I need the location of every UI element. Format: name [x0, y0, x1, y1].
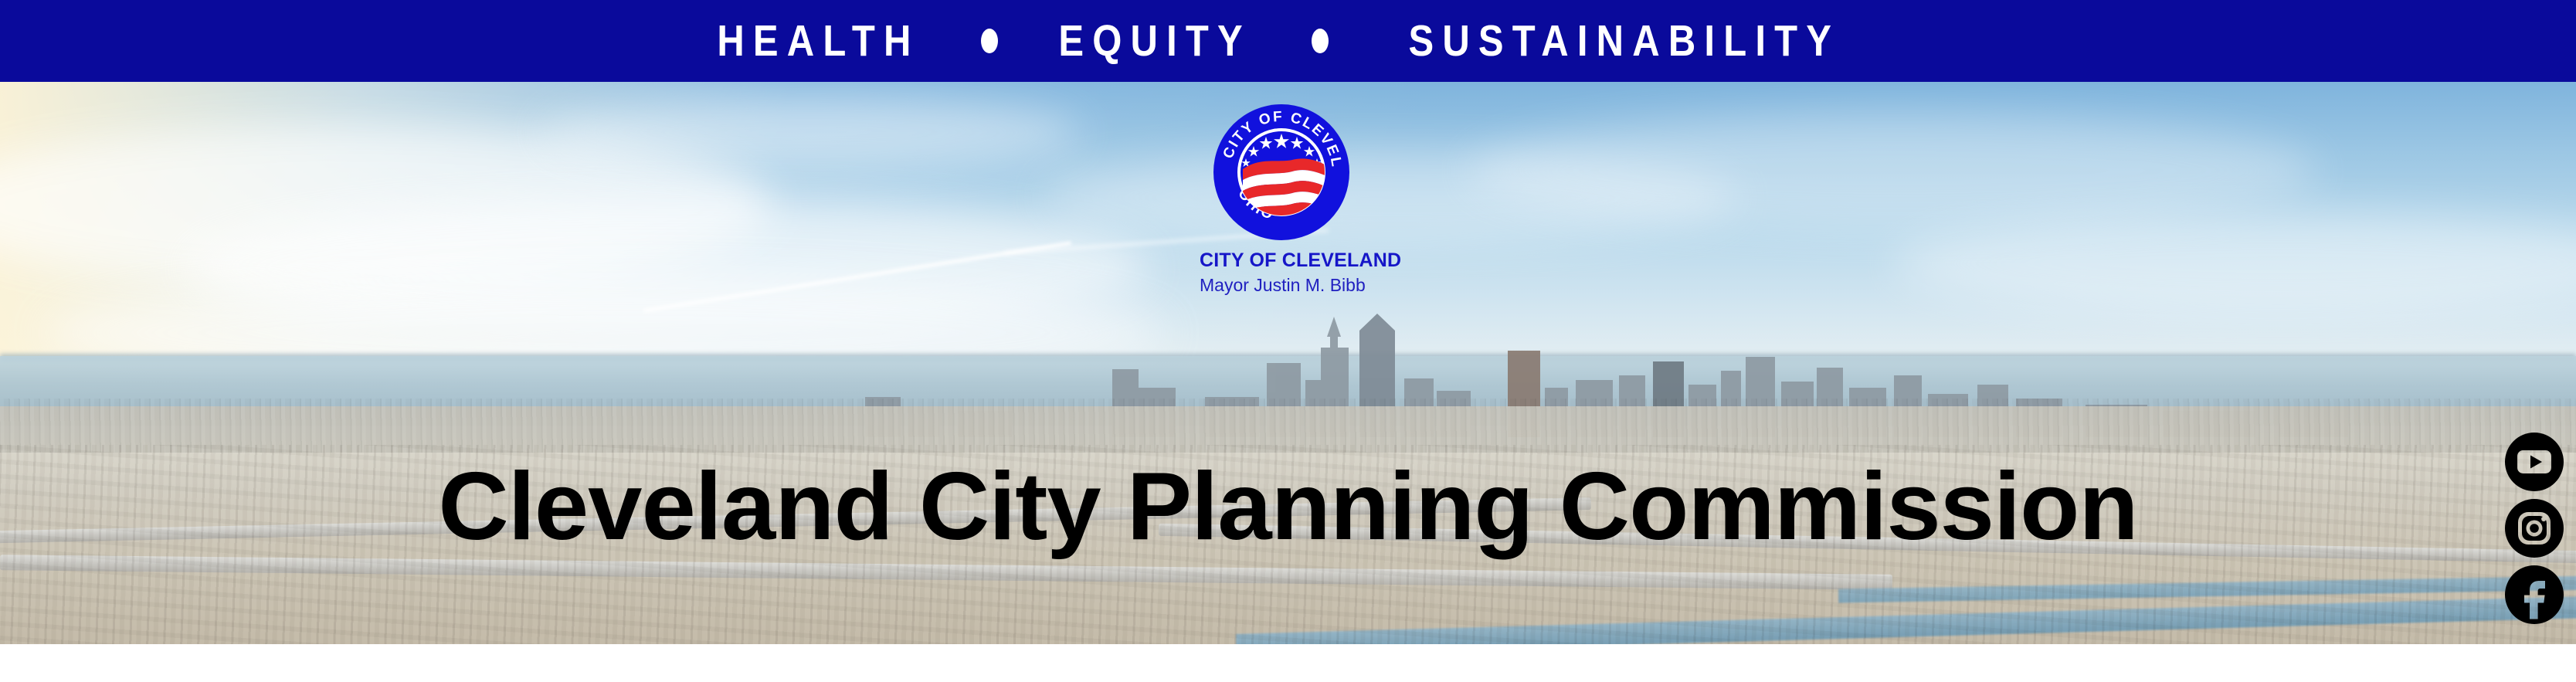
youtube-icon[interactable]: [2505, 433, 2564, 491]
city-of-cleveland-seal-icon: CITY OF CLEVELAND OHIO: [1212, 103, 1351, 242]
cloud: [541, 97, 1081, 167]
city-logo-lockup[interactable]: CITY OF CLEVELAND OHIO: [1200, 103, 1363, 296]
dot-separator-icon: [981, 29, 998, 53]
slogan-word-equity: EQUITY: [1058, 19, 1251, 63]
slogan-row: HEALTH EQUITY SUSTAINABILITY: [701, 19, 1875, 63]
org-name: CITY OF CLEVELAND: [1200, 249, 1363, 272]
slogan-word-health: HEALTH: [717, 19, 919, 63]
page-root: HEALTH EQUITY SUSTAINABILITY: [0, 0, 2576, 682]
facebook-icon[interactable]: [2505, 565, 2564, 624]
cloud: [1468, 113, 2317, 229]
instagram-icon[interactable]: [2505, 499, 2564, 558]
mayor-name: Mayor Justin M. Bibb: [1200, 275, 1363, 296]
slogan-banner: HEALTH EQUITY SUSTAINABILITY: [0, 0, 2576, 82]
hero-photo: CITY OF CLEVELAND OHIO: [0, 82, 2576, 644]
dot-separator-icon: [1312, 29, 1329, 53]
page-title: Cleveland City Planning Commission: [0, 459, 2576, 555]
bottom-white-strip: [0, 644, 2576, 682]
slogan-word-sustainability: SUSTAINABILITY: [1409, 19, 1841, 63]
social-links: [2505, 433, 2564, 624]
